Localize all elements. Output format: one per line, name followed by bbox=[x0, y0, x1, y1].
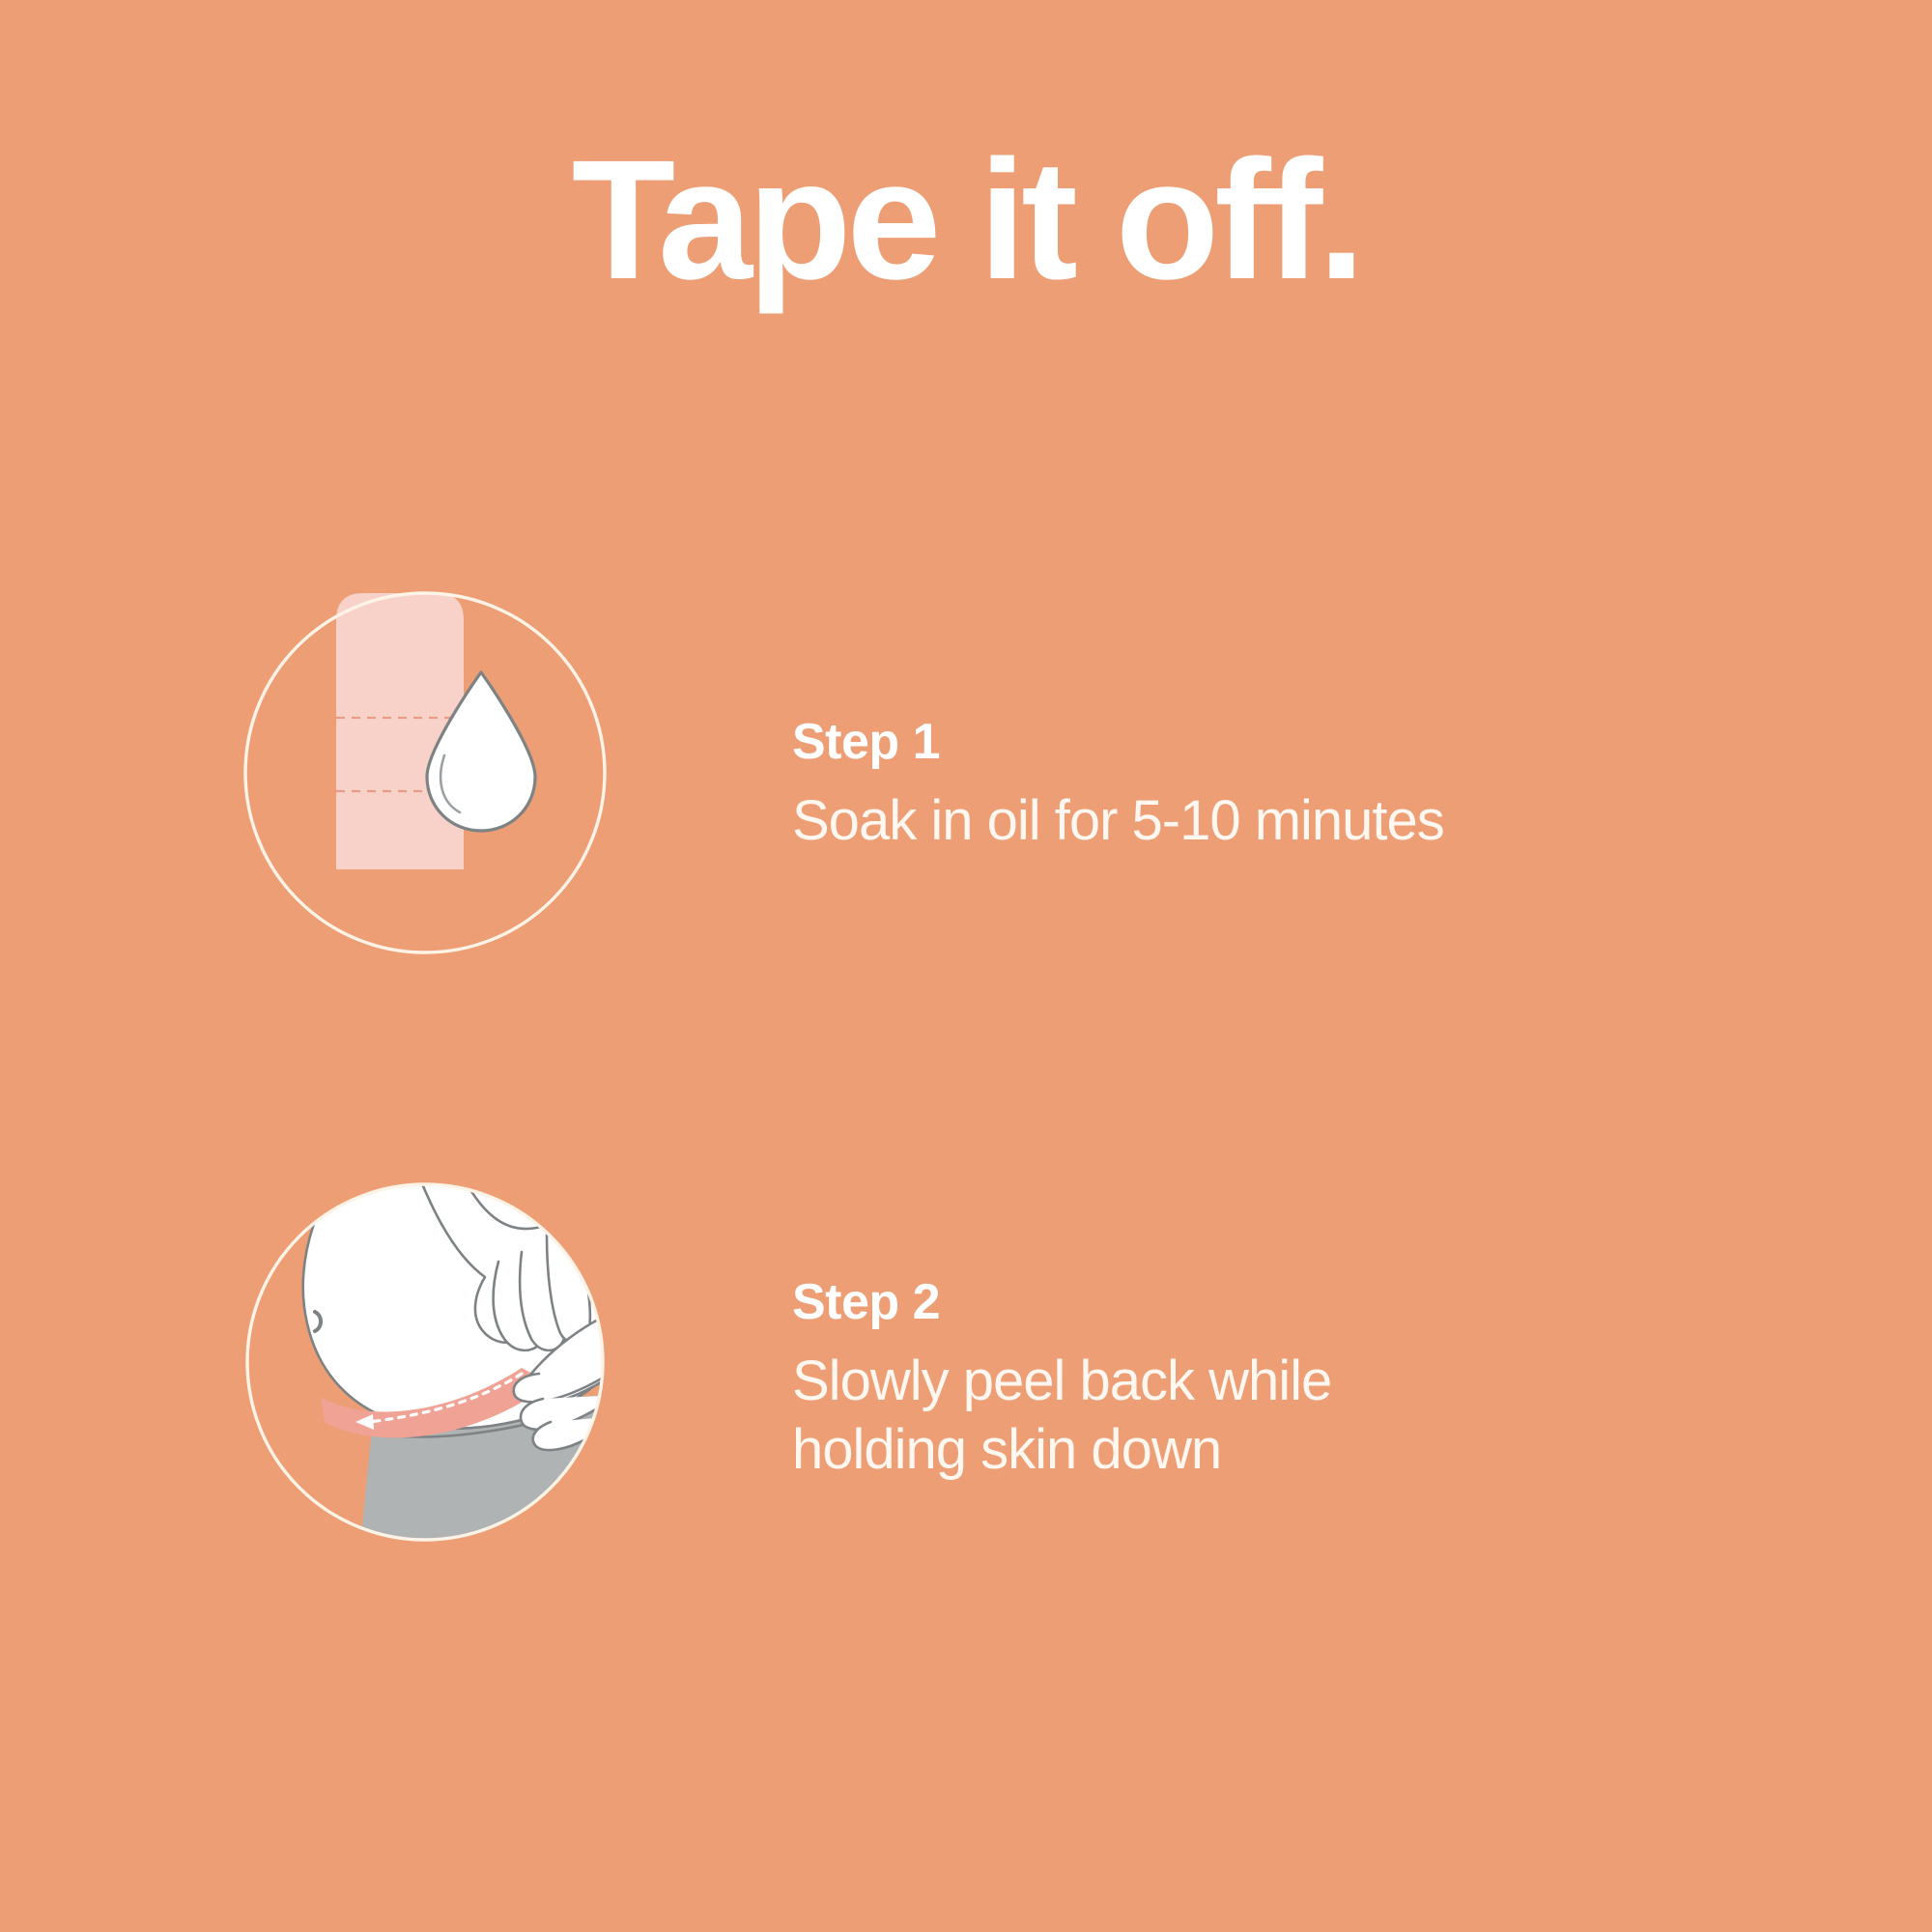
steps-container: Step 1 Soak in oil for 5-10 minutes bbox=[0, 580, 1932, 1758]
step-row: Step 1 Soak in oil for 5-10 minutes bbox=[0, 580, 1932, 995]
step-2-description-line: holding skin down bbox=[792, 1416, 1806, 1485]
step-1-illustration bbox=[232, 580, 618, 966]
step-2-description: Slowly peel back while holding skin down bbox=[792, 1348, 1806, 1485]
step-1-description-line: Soak in oil for 5-10 minutes bbox=[792, 787, 1806, 856]
step-2-title: Step 2 bbox=[792, 1275, 1806, 1330]
step-1-text: Step 1 Soak in oil for 5-10 minutes bbox=[792, 715, 1806, 856]
poster-canvas: Tape it off. bbox=[0, 0, 1932, 1932]
step-2-illustration bbox=[232, 1169, 618, 1555]
step-2-description-line: Slowly peel back while bbox=[792, 1348, 1806, 1416]
step-row: Step 2 Slowly peel back while holding sk… bbox=[0, 1169, 1932, 1584]
step-1-description: Soak in oil for 5-10 minutes bbox=[792, 787, 1806, 856]
step-2-text: Step 2 Slowly peel back while holding sk… bbox=[792, 1275, 1806, 1485]
page-title: Tape it off. bbox=[0, 135, 1932, 305]
step-1-title: Step 1 bbox=[792, 715, 1806, 770]
